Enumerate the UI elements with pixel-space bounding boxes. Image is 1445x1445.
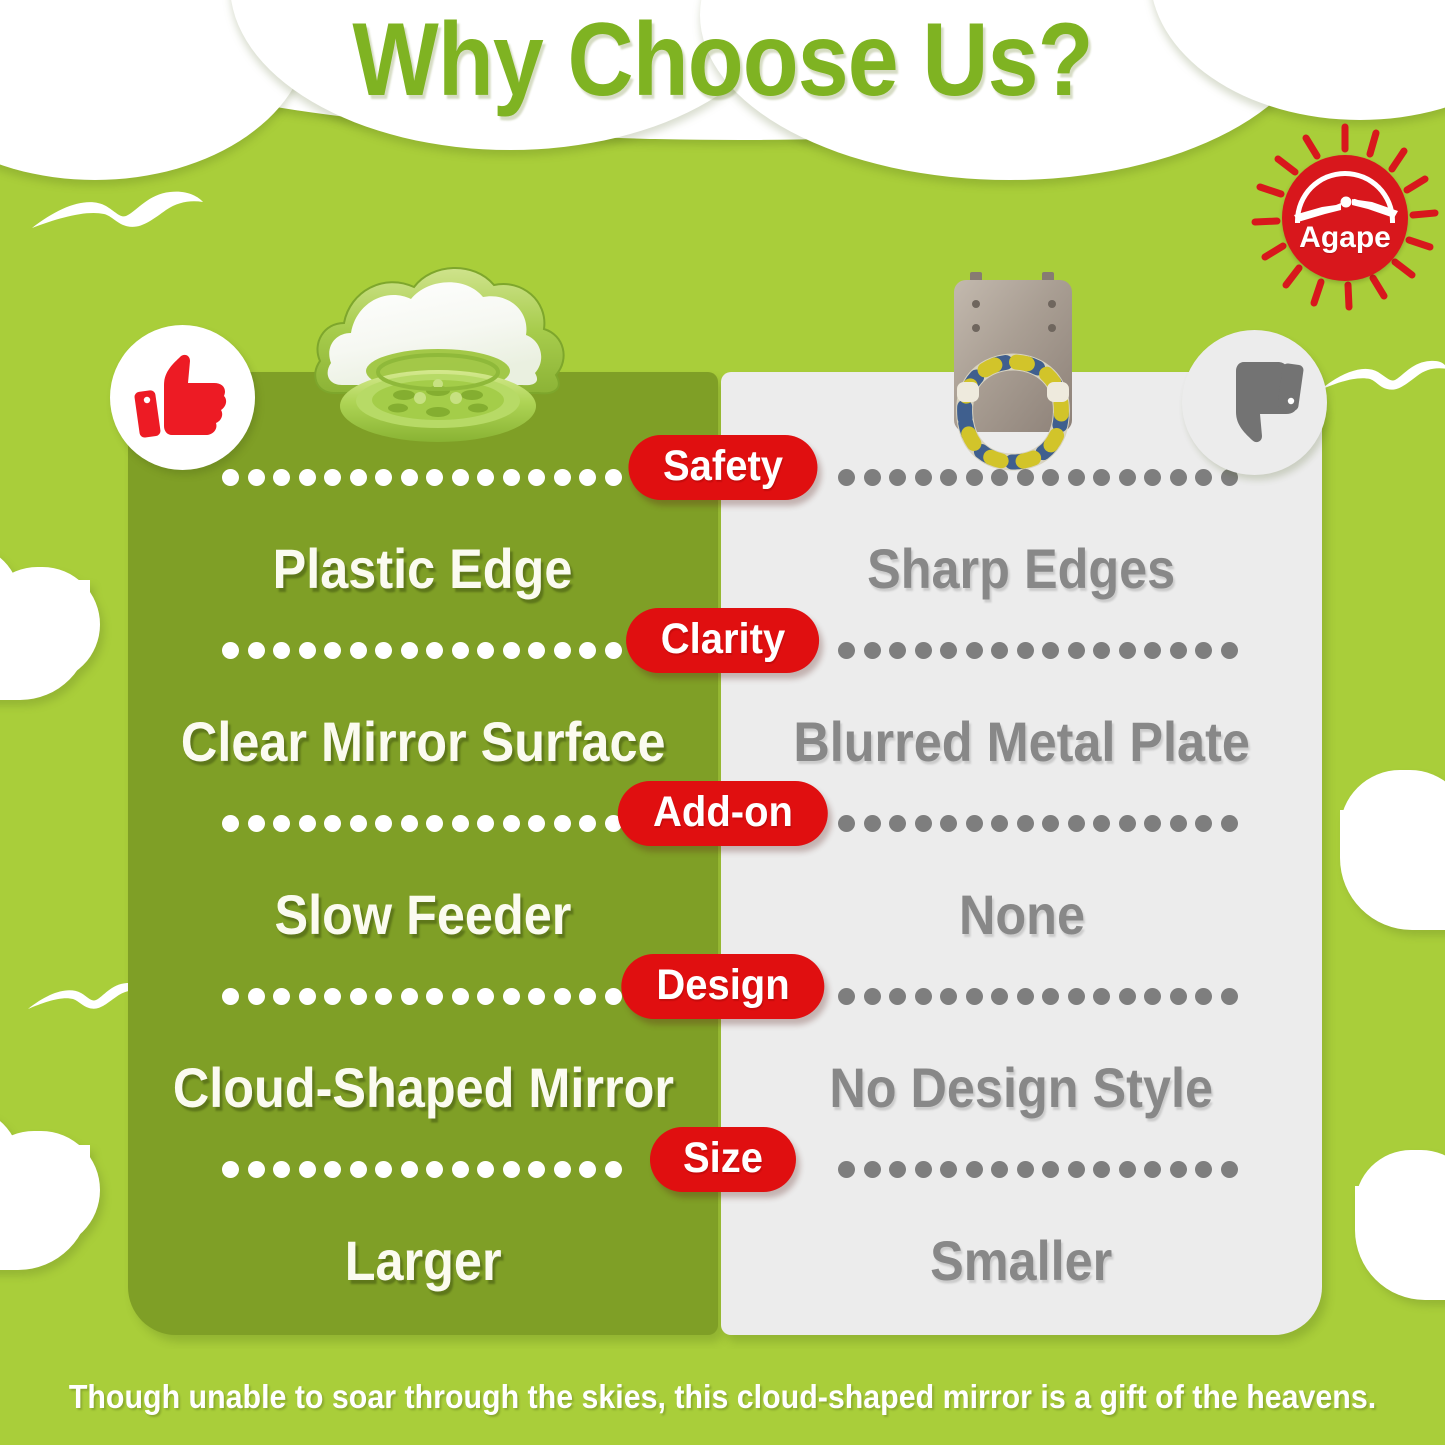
value-theirs: None [721,886,1322,945]
dotted-line-left [222,641,622,659]
feature-label-badge: Add-on [617,781,827,846]
brand-name: Agape [1282,221,1408,255]
comparison-panel-others [721,372,1322,1335]
value-ours: Cloud-Shaped Mirror [128,1059,718,1118]
bird-icon-top-left [30,180,205,232]
dotted-line-right [838,987,1238,1005]
thumbs-up-icon [134,351,232,445]
value-ours: Larger [128,1232,718,1291]
feature-label-badge: Size [649,1127,795,1192]
dotted-line-right [838,814,1238,832]
comparison-panel-ours [128,372,718,1335]
value-theirs: Smaller [721,1232,1322,1291]
logo-disc: Agape [1282,155,1408,281]
verdict-badge-bad [1182,330,1327,475]
infographic-canvas: Why Choose Us? [0,0,1445,1445]
value-theirs: Blurred Metal Plate [721,713,1322,772]
dotted-line-left [222,987,622,1005]
thumbs-down-icon [1206,356,1304,450]
bird-icon-left-lower [26,975,144,1013]
cloud-decoration-right-lower [1355,1150,1445,1300]
dotted-line-left [222,468,622,486]
handshake-paw-icon [1292,189,1400,223]
product-image-metal-plate [930,266,1120,471]
value-theirs: No Design Style [721,1059,1322,1118]
value-ours: Slow Feeder [128,886,718,945]
dotted-line-left [222,1160,622,1178]
feature-label-badge: Clarity [626,608,820,673]
dotted-line-right [838,1160,1238,1178]
feature-label-badge: Safety [628,435,817,500]
cloud-decoration-left-upper [0,545,140,700]
dotted-line-right [838,468,1238,486]
feature-label-badge: Design [621,954,824,1019]
dotted-line-right [838,641,1238,659]
cloud-decoration-left-lower [0,1105,140,1270]
brand-logo: Agape [1250,123,1440,313]
cloud-decoration-right-upper [1340,770,1445,930]
product-image-cloud-mirror [298,243,608,458]
footer-caption: Though unable to soar through the skies,… [69,1378,1376,1416]
value-theirs: Sharp Edges [721,540,1322,599]
page-title: Why Choose Us? [87,6,1359,115]
verdict-badge-good [110,325,255,470]
dotted-line-left [222,814,622,832]
value-ours: Plastic Edge [128,540,718,599]
value-ours: Clear Mirror Surface [128,713,718,772]
footer-caption-band: Though unable to soar through the skies,… [0,1349,1445,1445]
bird-icon-right [1318,352,1445,394]
